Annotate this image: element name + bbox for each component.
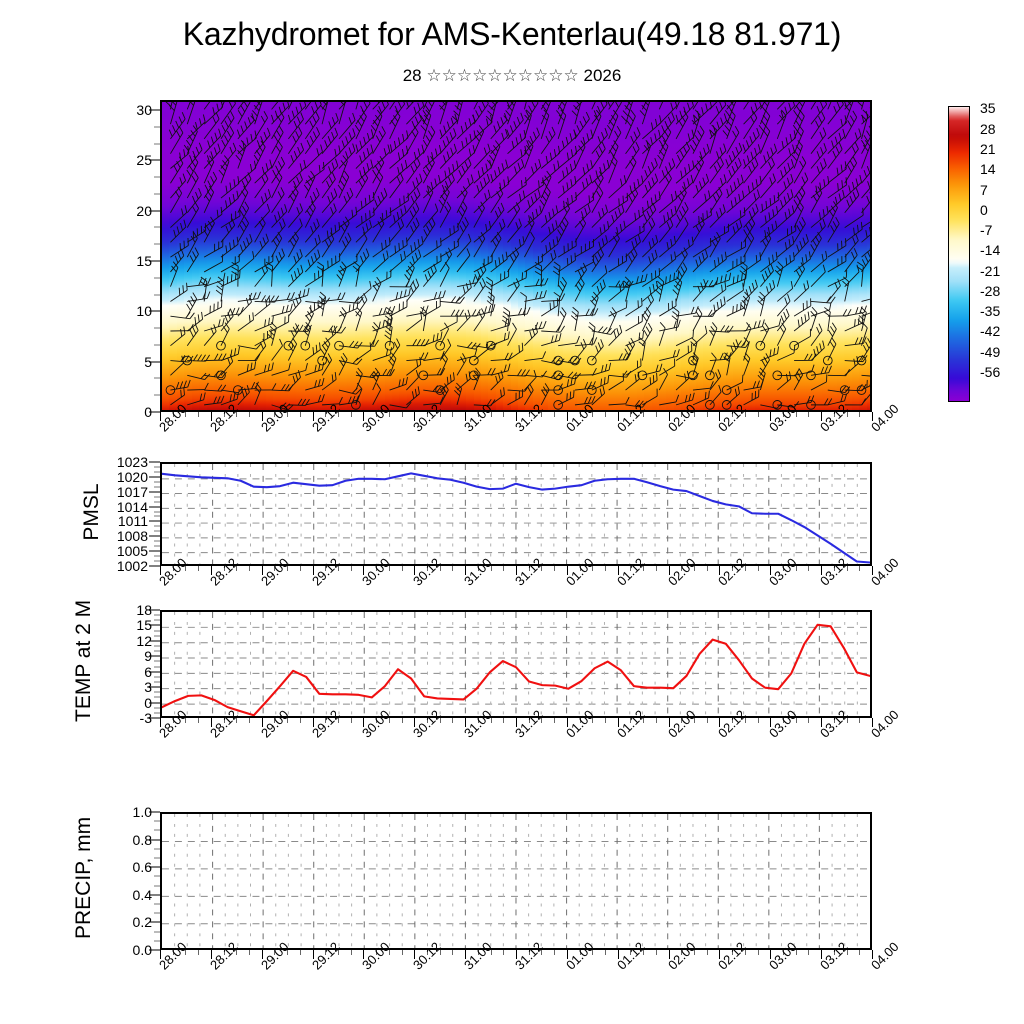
cross-section-plot[interactable] bbox=[160, 100, 872, 412]
x-tick-mark bbox=[452, 950, 453, 955]
x-tick-mark bbox=[452, 718, 453, 723]
y-tick-mark-minor bbox=[154, 277, 160, 278]
x-tick-mark bbox=[808, 718, 809, 723]
y-tick-mark-minor bbox=[154, 913, 160, 914]
x-tick-mark bbox=[605, 950, 606, 955]
x-tick-mark bbox=[859, 950, 860, 955]
x-tick-mark bbox=[300, 566, 301, 571]
x-tick-label: 04.00 bbox=[868, 555, 902, 589]
precip-series-line bbox=[162, 814, 870, 950]
temp-plot[interactable] bbox=[160, 610, 872, 718]
colorbar-tick-label: -35 bbox=[980, 303, 1000, 319]
y-tick-mark-minor bbox=[154, 501, 160, 502]
y-tick-mark bbox=[149, 718, 160, 719]
y-tick-mark-minor bbox=[154, 177, 160, 178]
x-tick-mark bbox=[656, 950, 657, 955]
y-tick-mark bbox=[149, 491, 160, 492]
y-tick-mark bbox=[149, 566, 160, 567]
y-tick-mark bbox=[149, 110, 160, 111]
x-tick-mark bbox=[605, 718, 606, 723]
y-tick-mark bbox=[149, 476, 160, 477]
y-tick-mark-minor bbox=[154, 481, 160, 482]
y-tick-mark-minor bbox=[154, 876, 160, 877]
x-tick-mark bbox=[300, 950, 301, 955]
y-tick-label: 1023 bbox=[117, 454, 148, 470]
x-tick-mark bbox=[503, 718, 504, 723]
x-tick-mark bbox=[198, 412, 199, 417]
y-tick-mark-minor bbox=[154, 486, 160, 487]
x-tick-mark bbox=[758, 950, 759, 955]
x-tick-mark bbox=[554, 950, 555, 955]
x-tick-mark bbox=[758, 718, 759, 723]
x-tick-mark bbox=[402, 566, 403, 571]
y-tick-mark-minor bbox=[154, 471, 160, 472]
y-tick-mark-minor bbox=[154, 620, 160, 621]
x-tick-mark bbox=[351, 566, 352, 571]
y-tick-mark-minor bbox=[154, 227, 160, 228]
y-tick-mark-minor bbox=[154, 546, 160, 547]
colorbar-tick-label: 35 bbox=[980, 100, 996, 116]
x-tick-mark bbox=[198, 950, 199, 955]
x-tick-mark bbox=[452, 566, 453, 571]
x-tick-label: 04.00 bbox=[868, 401, 902, 435]
x-tick-mark bbox=[605, 566, 606, 571]
x-tick-mark bbox=[249, 718, 250, 723]
x-tick-mark bbox=[707, 412, 708, 417]
y-tick-mark-minor bbox=[154, 661, 160, 662]
colorbar-tick-label: 28 bbox=[980, 121, 996, 137]
y-tick-mark bbox=[149, 922, 160, 923]
y-tick-mark-minor bbox=[154, 885, 160, 886]
x-tick-mark bbox=[808, 412, 809, 417]
x-tick-mark bbox=[808, 950, 809, 955]
x-tick-mark bbox=[859, 566, 860, 571]
precip-plot[interactable] bbox=[160, 812, 872, 950]
y-tick-mark bbox=[149, 894, 160, 895]
x-tick-mark bbox=[402, 718, 403, 723]
y-tick-mark-minor bbox=[154, 328, 160, 329]
y-tick-mark-minor bbox=[154, 821, 160, 822]
pmsl-series-line bbox=[162, 464, 870, 566]
y-tick-mark-minor bbox=[154, 531, 160, 532]
subtitle-day: 28 bbox=[403, 66, 422, 85]
y-tick-label: 1011 bbox=[118, 513, 148, 529]
x-tick-mark bbox=[656, 412, 657, 417]
x-tick-mark bbox=[249, 566, 250, 571]
temp-series-line bbox=[162, 612, 870, 718]
colorbar-gradient bbox=[949, 107, 969, 401]
x-tick-mark bbox=[605, 412, 606, 417]
y-tick-mark bbox=[149, 506, 160, 507]
x-tick-mark bbox=[554, 412, 555, 417]
colorbar-tick-label: 21 bbox=[980, 141, 996, 157]
y-tick-mark bbox=[149, 702, 160, 703]
y-tick-mark bbox=[149, 839, 160, 840]
y-tick-mark-minor bbox=[154, 126, 160, 127]
y-tick-mark-minor bbox=[154, 712, 160, 713]
y-tick-mark bbox=[149, 462, 160, 463]
y-tick-mark-minor bbox=[154, 378, 160, 379]
y-tick-label: 1017 bbox=[117, 484, 148, 500]
x-tick-mark bbox=[198, 566, 199, 571]
y-tick-mark bbox=[149, 640, 160, 641]
colorbar-tick-label: -7 bbox=[980, 222, 992, 238]
colorbar-tick-label: -21 bbox=[980, 263, 1000, 279]
y-tick-mark-minor bbox=[154, 676, 160, 677]
y-tick-label: 1020 bbox=[117, 469, 148, 485]
y-tick-mark-minor bbox=[154, 561, 160, 562]
y-tick-mark bbox=[149, 625, 160, 626]
y-tick-mark-minor bbox=[154, 682, 160, 683]
x-tick-mark bbox=[249, 950, 250, 955]
x-tick-mark bbox=[351, 950, 352, 955]
y-tick-mark bbox=[149, 521, 160, 522]
x-tick-label: 04.00 bbox=[868, 939, 902, 973]
y-tick-mark-minor bbox=[154, 344, 160, 345]
y-tick-mark bbox=[149, 536, 160, 537]
y-tick-mark bbox=[149, 551, 160, 552]
y-tick-mark-minor bbox=[154, 556, 160, 557]
subtitle-year: 2026 bbox=[583, 66, 621, 85]
y-tick-mark-minor bbox=[154, 697, 160, 698]
y-tick-mark-minor bbox=[154, 615, 160, 616]
y-tick-mark bbox=[149, 812, 160, 813]
y-tick-label: 1002 bbox=[117, 558, 148, 574]
x-tick-mark bbox=[351, 412, 352, 417]
colorbar-tick-label: -56 bbox=[980, 364, 1000, 380]
y-tick-mark-minor bbox=[154, 931, 160, 932]
precip-axis-title: PRECIP, mm bbox=[72, 819, 96, 939]
y-tick-mark-minor bbox=[154, 830, 160, 831]
x-tick-mark bbox=[758, 566, 759, 571]
colorbar-tick-label: -42 bbox=[980, 323, 1000, 339]
x-tick-mark bbox=[503, 566, 504, 571]
y-tick-mark bbox=[149, 950, 160, 951]
y-tick-mark-minor bbox=[154, 395, 160, 396]
colorbar-tick-label: -49 bbox=[980, 344, 1000, 360]
y-tick-mark bbox=[149, 361, 160, 362]
x-tick-mark bbox=[402, 950, 403, 955]
y-tick-mark-minor bbox=[154, 848, 160, 849]
x-tick-mark bbox=[554, 718, 555, 723]
y-tick-mark bbox=[149, 412, 160, 413]
y-tick-mark bbox=[149, 687, 160, 688]
y-tick-mark-minor bbox=[154, 666, 160, 667]
y-tick-mark-minor bbox=[154, 516, 160, 517]
x-tick-mark bbox=[351, 718, 352, 723]
y-tick-mark bbox=[149, 610, 160, 611]
y-tick-mark-minor bbox=[154, 193, 160, 194]
x-tick-mark bbox=[452, 412, 453, 417]
x-tick-mark bbox=[707, 566, 708, 571]
pmsl-axis-title: PMSL bbox=[80, 452, 104, 572]
y-tick-mark-minor bbox=[154, 858, 160, 859]
colorbar-tick-label: 7 bbox=[980, 182, 988, 198]
y-tick-mark bbox=[149, 210, 160, 211]
x-tick-mark bbox=[758, 412, 759, 417]
y-tick-mark-minor bbox=[154, 496, 160, 497]
pmsl-plot[interactable] bbox=[160, 462, 872, 566]
y-tick-mark-minor bbox=[154, 904, 160, 905]
x-tick-mark bbox=[707, 950, 708, 955]
y-tick-mark-minor bbox=[154, 692, 160, 693]
page-title: Kazhydromet for AMS-Kenterlau(49.18 81.9… bbox=[0, 16, 1024, 53]
y-tick-mark-minor bbox=[154, 940, 160, 941]
y-tick-mark-minor bbox=[154, 511, 160, 512]
x-tick-mark bbox=[300, 412, 301, 417]
y-tick-mark-minor bbox=[154, 646, 160, 647]
y-tick-mark bbox=[149, 867, 160, 868]
colorbar bbox=[948, 106, 970, 402]
y-tick-label: 1008 bbox=[117, 528, 148, 544]
y-tick-label: 1005 bbox=[117, 543, 148, 559]
x-tick-mark bbox=[503, 950, 504, 955]
temp-axis-title: TEMP at 2 M bbox=[72, 602, 96, 722]
y-tick-mark-minor bbox=[154, 143, 160, 144]
x-tick-mark bbox=[808, 566, 809, 571]
x-tick-mark bbox=[402, 412, 403, 417]
x-tick-mark bbox=[656, 718, 657, 723]
wind-barbs-overlay bbox=[162, 102, 870, 412]
y-tick-mark bbox=[149, 261, 160, 262]
y-tick-mark bbox=[149, 160, 160, 161]
subtitle-month-glyphs: ☆☆☆☆☆☆☆☆☆☆ bbox=[426, 66, 578, 85]
colorbar-tick-label: -28 bbox=[980, 283, 1000, 299]
x-tick-mark bbox=[300, 718, 301, 723]
y-tick-mark-minor bbox=[154, 526, 160, 527]
y-tick-mark-minor bbox=[154, 541, 160, 542]
y-tick-mark-minor bbox=[154, 244, 160, 245]
x-tick-label: 04.00 bbox=[868, 707, 902, 741]
x-tick-mark bbox=[656, 566, 657, 571]
x-tick-mark bbox=[859, 412, 860, 417]
y-tick-label: 1014 bbox=[117, 499, 148, 515]
y-tick-mark-minor bbox=[154, 630, 160, 631]
y-tick-mark-minor bbox=[154, 651, 160, 652]
x-tick-mark bbox=[249, 412, 250, 417]
y-tick-mark-minor bbox=[154, 707, 160, 708]
colorbar-tick-label: -14 bbox=[980, 242, 1000, 258]
x-tick-mark bbox=[859, 718, 860, 723]
x-tick-mark bbox=[503, 412, 504, 417]
x-tick-mark bbox=[198, 718, 199, 723]
y-tick-mark-minor bbox=[154, 635, 160, 636]
y-tick-mark bbox=[149, 671, 160, 672]
meteogram-page: Kazhydromet for AMS-Kenterlau(49.18 81.9… bbox=[0, 0, 1024, 1024]
colorbar-tick-label: 0 bbox=[980, 202, 988, 218]
x-tick-mark bbox=[554, 566, 555, 571]
page-subtitle: 28 ☆☆☆☆☆☆☆☆☆☆ 2026 bbox=[0, 66, 1024, 86]
y-tick-mark-minor bbox=[154, 466, 160, 467]
y-tick-mark bbox=[149, 311, 160, 312]
y-tick-mark bbox=[149, 656, 160, 657]
y-tick-mark-minor bbox=[154, 294, 160, 295]
x-tick-mark bbox=[707, 718, 708, 723]
colorbar-tick-label: 14 bbox=[980, 161, 996, 177]
